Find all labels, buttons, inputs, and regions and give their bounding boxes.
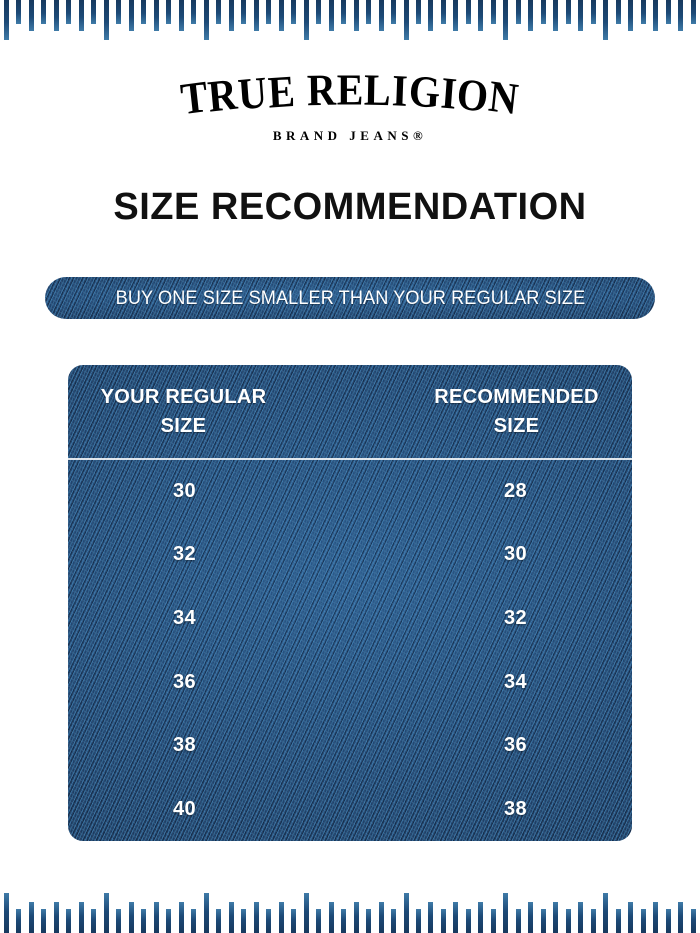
ruler-tick (379, 902, 384, 933)
ruler-tick (678, 902, 683, 933)
brand-logo-letter: U (237, 70, 270, 117)
ruler-tick (503, 0, 508, 40)
ruler-tick (166, 909, 171, 933)
ruler-tick (4, 0, 9, 40)
ruler-tick (16, 0, 21, 24)
ruler-tick (79, 902, 84, 933)
ruler-tick (578, 902, 583, 933)
ruler-tick (641, 909, 646, 933)
ruler-tick (354, 0, 359, 31)
ruler-tick (491, 0, 496, 24)
cell-regular-size: 34 (68, 607, 363, 630)
ruler-tick (54, 902, 59, 933)
ruler-tick (204, 0, 209, 40)
ruler-tick (179, 0, 184, 31)
ruler-tick (616, 0, 621, 24)
ruler-tick (4, 893, 9, 933)
ruler-tick (229, 0, 234, 31)
ruler-tick (516, 0, 521, 24)
ruler-tick (191, 909, 196, 933)
ruler-tick (566, 0, 571, 24)
ruler-tick (191, 0, 196, 24)
ruler-tick (304, 0, 309, 40)
ruler-tick (241, 0, 246, 24)
ruler-tick (154, 902, 159, 933)
ruler-tick (216, 0, 221, 24)
ruler-tick (453, 0, 458, 31)
table-row: 38 36 (68, 714, 632, 778)
brand-logo-wordmark: TRUE RELIGION (181, 76, 520, 121)
ruler-tick (166, 0, 171, 24)
ruler-tick (441, 0, 446, 24)
ruler-tick (91, 0, 96, 24)
ruler-tick (54, 0, 59, 31)
ruler-tick (129, 902, 134, 933)
ruler-tick (528, 0, 533, 31)
brand-logo-letter: E (337, 68, 365, 113)
ruler-tick (179, 902, 184, 933)
ruler-tick (441, 909, 446, 933)
ruler-tick (691, 909, 696, 933)
ruler-tick (141, 0, 146, 24)
table-row: 30 28 (68, 460, 632, 524)
column-header-your-regular-size-line1: YOUR REGULAR (101, 386, 267, 408)
ruler-tick (341, 0, 346, 24)
table-row: 34 32 (68, 587, 632, 651)
cell-recommended-size: 34 (363, 671, 632, 694)
column-header-your-regular-size-line2: SIZE (161, 415, 207, 437)
ruler-tick (628, 0, 633, 31)
column-header-recommended-size-line2: SIZE (494, 415, 540, 437)
ruler-tick (553, 902, 558, 933)
brand-logo-letter: R (306, 68, 337, 113)
ruler-tick (391, 909, 396, 933)
ruler-tick (41, 0, 46, 24)
ruler-tick (453, 902, 458, 933)
ruler-tick (316, 909, 321, 933)
brand-logo-letter: I (391, 68, 409, 114)
ruler-tick (428, 902, 433, 933)
ruler-tick (304, 893, 309, 933)
ruler-tick (603, 0, 608, 40)
advice-banner-text: BUY ONE SIZE SMALLER THAN YOUR REGULAR S… (115, 287, 585, 310)
table-row: 36 34 (68, 650, 632, 714)
ruler-tick (503, 893, 508, 933)
ruler-tick (66, 0, 71, 24)
ruler-tick (404, 893, 409, 933)
ruler-tick (616, 909, 621, 933)
ruler-tick (79, 0, 84, 31)
ruler-tick (29, 0, 34, 31)
ruler-tick (603, 893, 608, 933)
ruler-tick (691, 0, 696, 24)
table-header-row: YOUR REGULAR SIZE RECOMMENDED SIZE (68, 365, 632, 458)
advice-banner: BUY ONE SIZE SMALLER THAN YOUR REGULAR S… (45, 277, 655, 319)
ruler-tick (16, 909, 21, 933)
ruler-tick (666, 0, 671, 24)
ruler-tick (204, 893, 209, 933)
ruler-tick (216, 909, 221, 933)
cell-recommended-size: 36 (363, 734, 632, 757)
ruler-tick (329, 902, 334, 933)
ruler-tick (266, 909, 271, 933)
cell-regular-size: 40 (68, 798, 363, 821)
ruler-tick (329, 0, 334, 31)
ruler-tick (478, 0, 483, 31)
ruler-tick (466, 0, 471, 24)
ruler-tick (41, 909, 46, 933)
ruler-tick (141, 909, 146, 933)
cell-recommended-size: 28 (363, 480, 632, 503)
size-recommendation-table: YOUR REGULAR SIZE RECOMMENDED SIZE 30 28… (68, 365, 632, 841)
ruler-tick (229, 902, 234, 933)
ruler-tick (678, 0, 683, 31)
ruler-tick (528, 902, 533, 933)
ruler-tick (653, 0, 658, 31)
cell-recommended-size: 30 (363, 543, 632, 566)
ruler-tick (266, 0, 271, 24)
ruler-tick (279, 902, 284, 933)
ruler-tick (428, 0, 433, 31)
ruler-tick (291, 0, 296, 24)
table-row: 32 30 (68, 523, 632, 587)
ruler-tick (129, 0, 134, 31)
ruler-tick (578, 0, 583, 31)
ruler-tick (104, 893, 109, 933)
ruler-tick (466, 909, 471, 933)
cell-regular-size: 38 (68, 734, 363, 757)
ruler-tick (516, 909, 521, 933)
cell-regular-size: 36 (68, 671, 363, 694)
ruler-tick (91, 909, 96, 933)
ruler-tick (366, 909, 371, 933)
table-body: 30 28 32 30 34 32 36 34 38 36 40 38 (68, 460, 632, 842)
ruler-tick (416, 909, 421, 933)
ruler-tick (416, 0, 421, 24)
ruler-tick (254, 0, 259, 31)
ruler-bottom (0, 889, 700, 933)
ruler-tick (366, 0, 371, 24)
brand-logo-letter: E (267, 69, 297, 116)
brand-logo-letter (295, 68, 308, 113)
ruler-tick (566, 909, 571, 933)
brand-logo-letter: G (407, 69, 442, 116)
ruler-tick (379, 0, 384, 31)
ruler-tick (29, 902, 34, 933)
column-header-your-regular-size: YOUR REGULAR SIZE (68, 383, 381, 441)
cell-regular-size: 32 (68, 543, 363, 566)
ruler-tick (154, 0, 159, 31)
ruler-tick (404, 0, 409, 40)
brand-logo-letter: L (364, 68, 392, 113)
ruler-tick (66, 909, 71, 933)
ruler-tick (341, 909, 346, 933)
ruler-tick (491, 909, 496, 933)
ruler-tick (628, 902, 633, 933)
brand-logo-tagline: BRAND JEANS® (0, 128, 700, 144)
ruler-tick (591, 0, 596, 24)
column-header-recommended-size: RECOMMENDED SIZE (381, 383, 632, 441)
ruler-tick (279, 0, 284, 31)
ruler-tick (241, 909, 246, 933)
ruler-tick (116, 0, 121, 24)
column-header-recommended-size-line1: RECOMMENDED (434, 386, 598, 408)
ruler-tick (591, 909, 596, 933)
brand-logo-letter: R (206, 72, 240, 120)
page-title: SIZE RECOMMENDATION (0, 186, 700, 229)
cell-recommended-size: 38 (363, 798, 632, 821)
brand-logo: TRUE RELIGION BRAND JEANS® (0, 78, 700, 144)
ruler-tick (291, 909, 296, 933)
ruler-tick (104, 0, 109, 40)
ruler-tick (478, 902, 483, 933)
ruler-tick (354, 902, 359, 933)
brand-logo-letter: O (455, 71, 491, 119)
ruler-tick (553, 0, 558, 31)
ruler-tick (391, 0, 396, 24)
ruler-tick (666, 909, 671, 933)
ruler-tick (541, 0, 546, 24)
ruler-top (0, 0, 700, 44)
ruler-tick (653, 902, 658, 933)
ruler-tick (541, 909, 546, 933)
brand-logo-letter: N (487, 74, 522, 123)
ruler-tick (254, 902, 259, 933)
ruler-tick (316, 0, 321, 24)
cell-regular-size: 30 (68, 480, 363, 503)
table-row: 40 38 (68, 777, 632, 841)
ruler-tick (641, 0, 646, 24)
ruler-tick (116, 909, 121, 933)
cell-recommended-size: 32 (363, 607, 632, 630)
